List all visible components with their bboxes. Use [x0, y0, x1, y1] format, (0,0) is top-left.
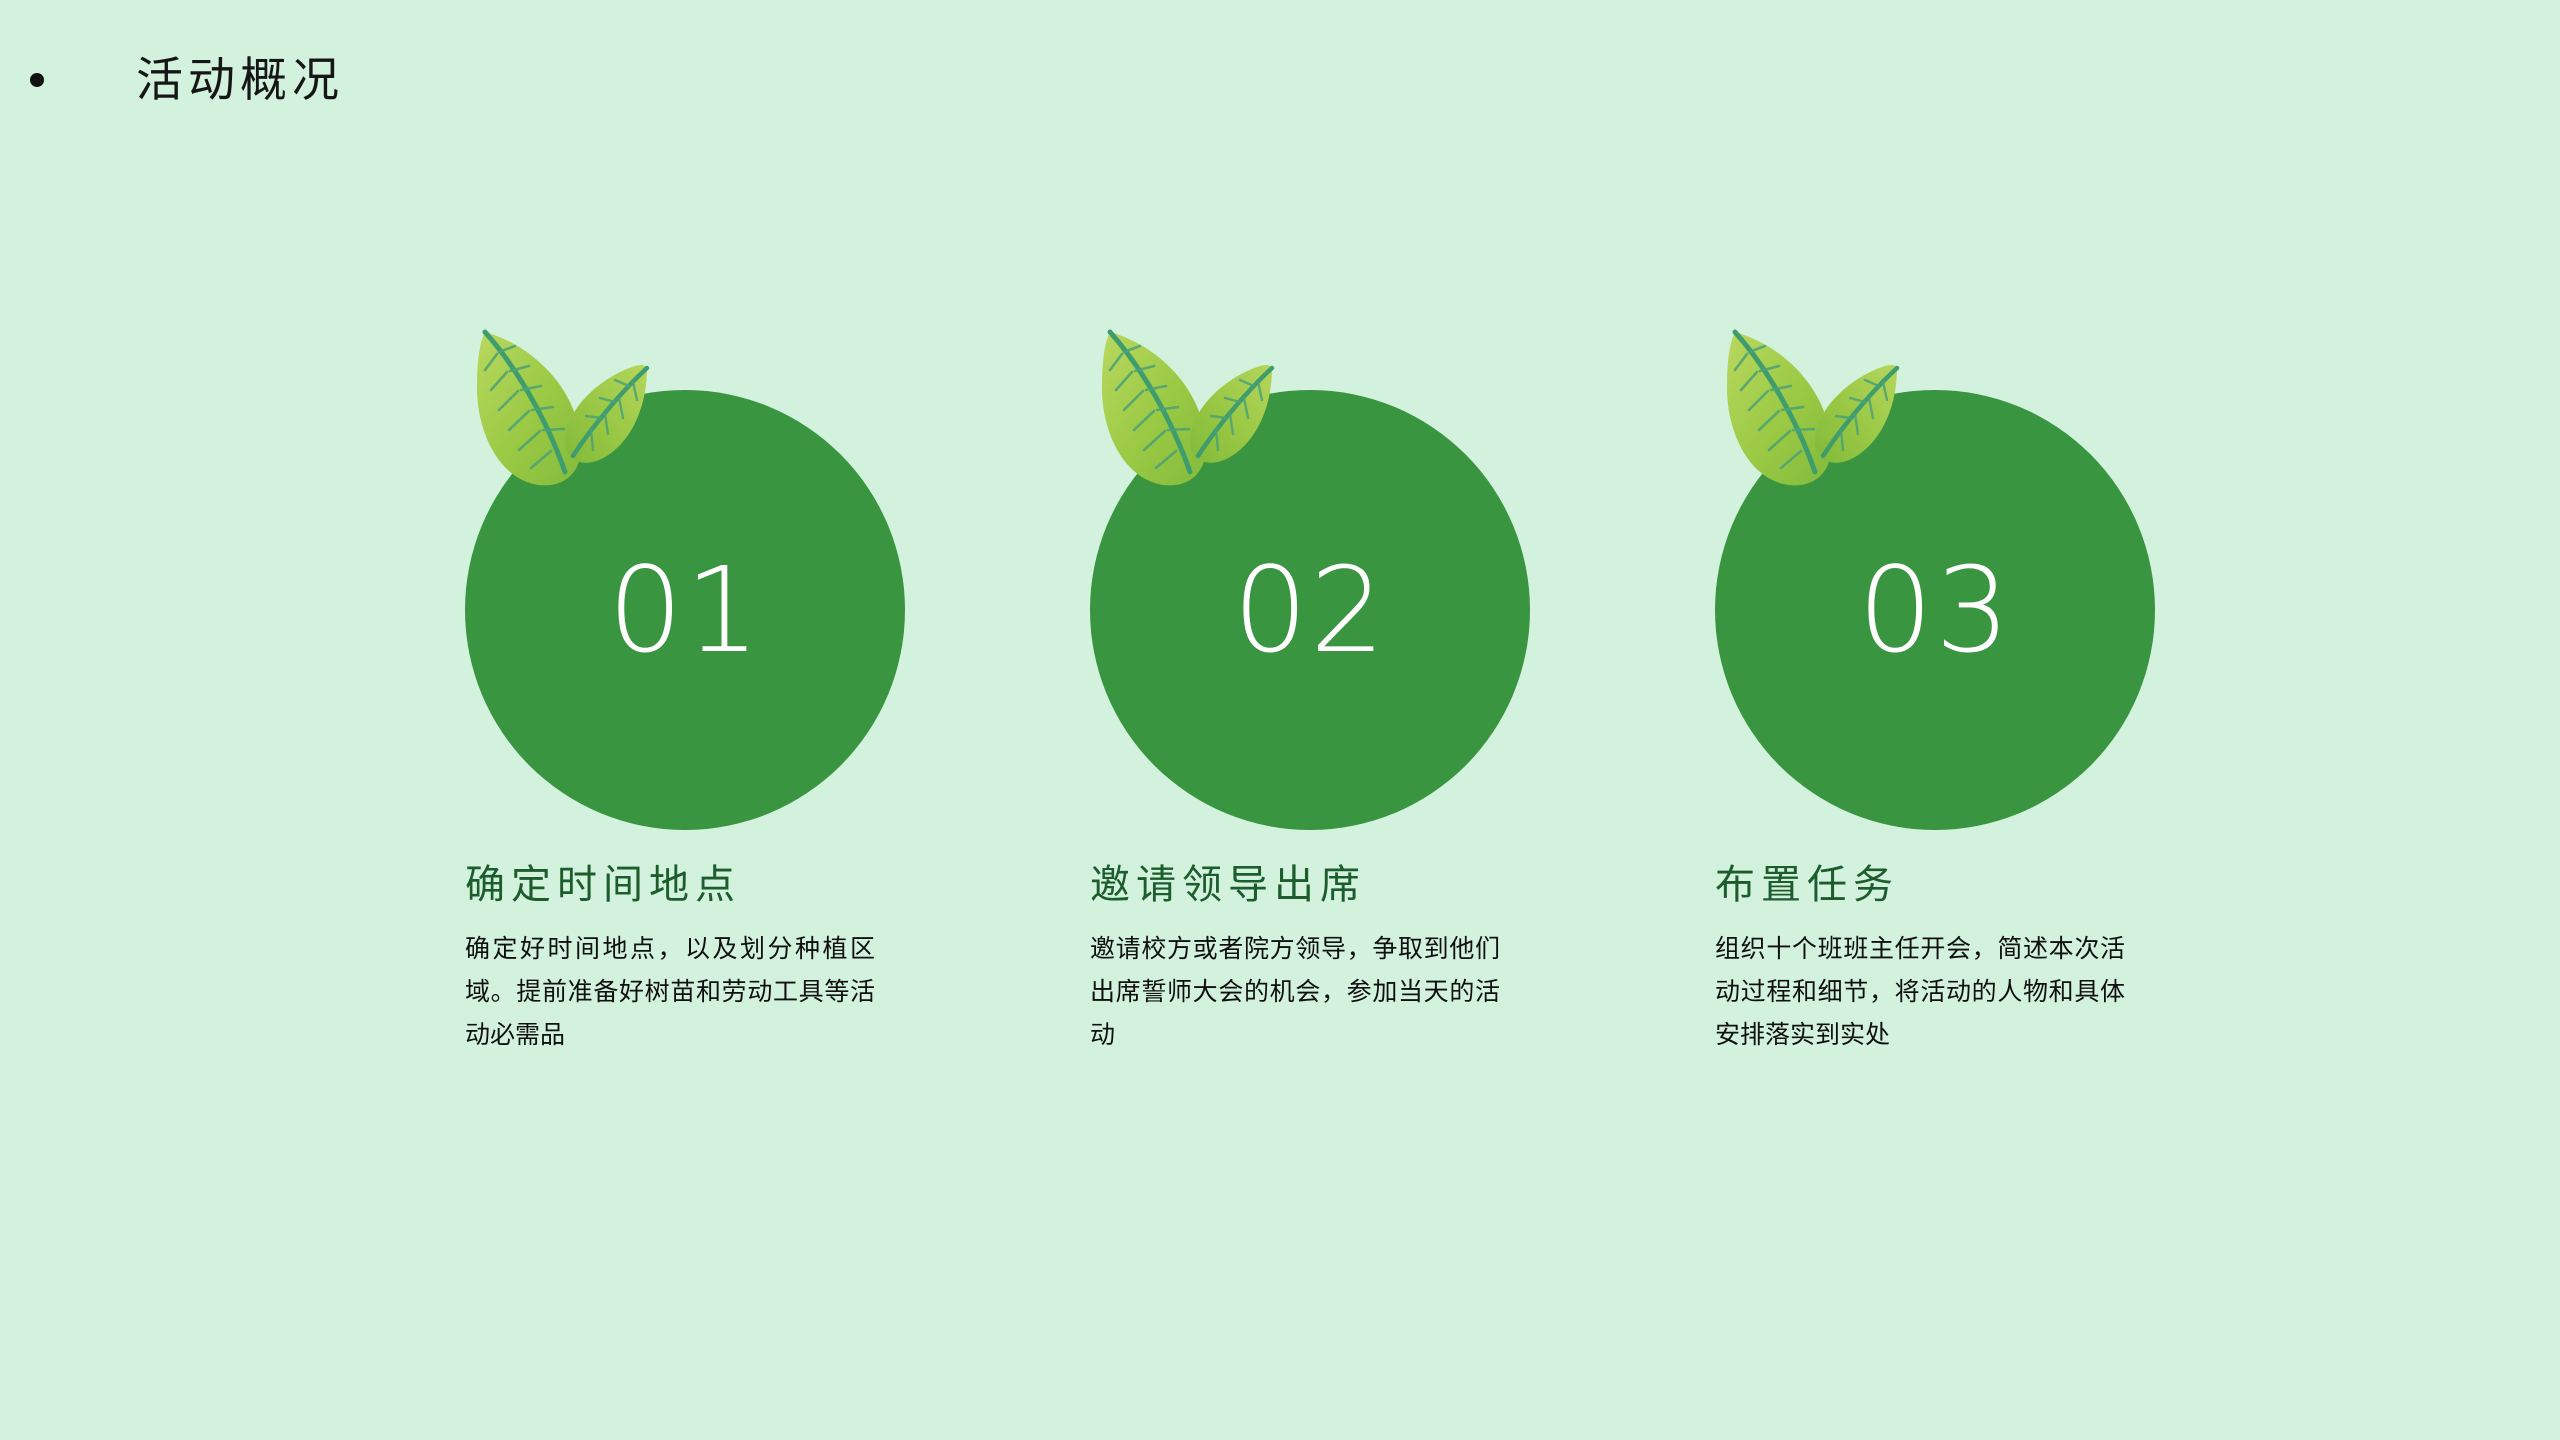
step-badge-03: 03 [1715, 320, 2155, 840]
step-circle-02[interactable]: 02 [1090, 390, 1530, 830]
page-title: 活动概况 [136, 54, 344, 106]
step-card-03[interactable]: 03 [1715, 320, 2155, 1057]
step-number-label: 01 [608, 551, 762, 669]
step-heading-01: 确定时间地点 [465, 862, 905, 908]
slide-title-row: 活动概况 [0, 40, 2560, 120]
bullet-dot-icon [30, 73, 44, 87]
step-body-02: 邀请校方或者院方领导，争取到他们出席誓师大会的机会，参加当天的活动 [1090, 928, 1500, 1057]
step-heading-03: 布置任务 [1715, 862, 2155, 908]
step-card-02[interactable]: 02 [1090, 320, 1530, 1057]
step-badge-01: 01 [465, 320, 905, 840]
step-body-01: 确定好时间地点，以及划分种植区域。提前准备好树苗和劳动工具等活动必需品 [465, 928, 875, 1057]
steps-container: 01 [465, 320, 2265, 1057]
step-number-label: 03 [1858, 551, 2012, 669]
step-heading-02: 邀请领导出席 [1090, 862, 1530, 908]
step-circle-03[interactable]: 03 [1715, 390, 2155, 830]
step-body-03: 组织十个班班主任开会，简述本次活动过程和细节，将活动的人物和具体安排落实到实处 [1715, 928, 2125, 1057]
step-badge-02: 02 [1090, 320, 1530, 840]
step-number-label: 02 [1233, 551, 1387, 669]
step-circle-01[interactable]: 01 [465, 390, 905, 830]
step-card-01[interactable]: 01 [465, 320, 905, 1057]
